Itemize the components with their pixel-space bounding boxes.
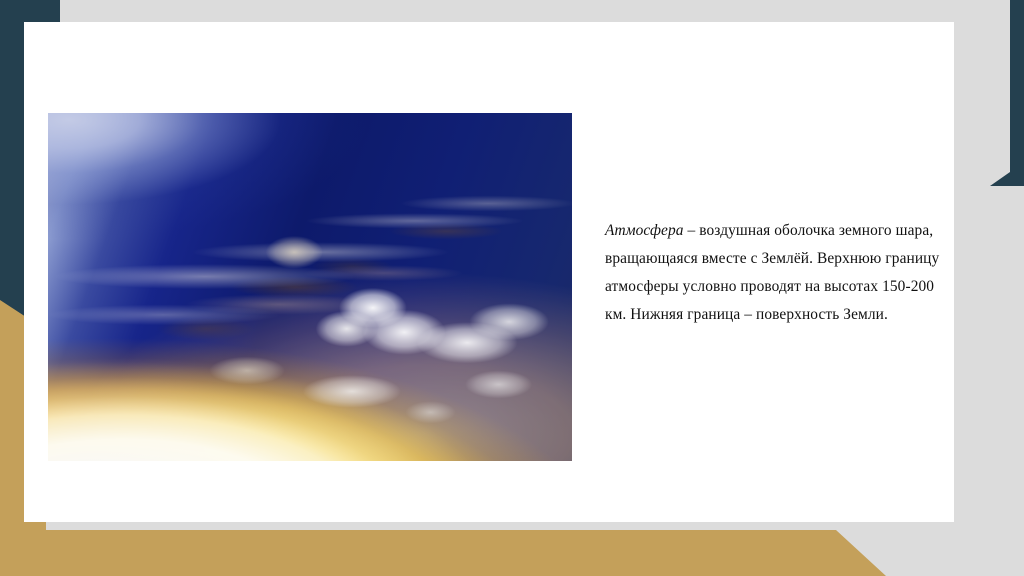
earth-atmosphere-photo [48,113,572,461]
photo-layer-cumulus-clouds [48,113,572,461]
caption-paragraph: Атмосфера – воздушная оболочка земного ш… [605,217,955,329]
caption-term: Атмосфера [605,222,684,239]
caption-dash: – [684,222,700,239]
slide-canvas: Атмосфера – воздушная оболочка земного ш… [0,0,1024,576]
